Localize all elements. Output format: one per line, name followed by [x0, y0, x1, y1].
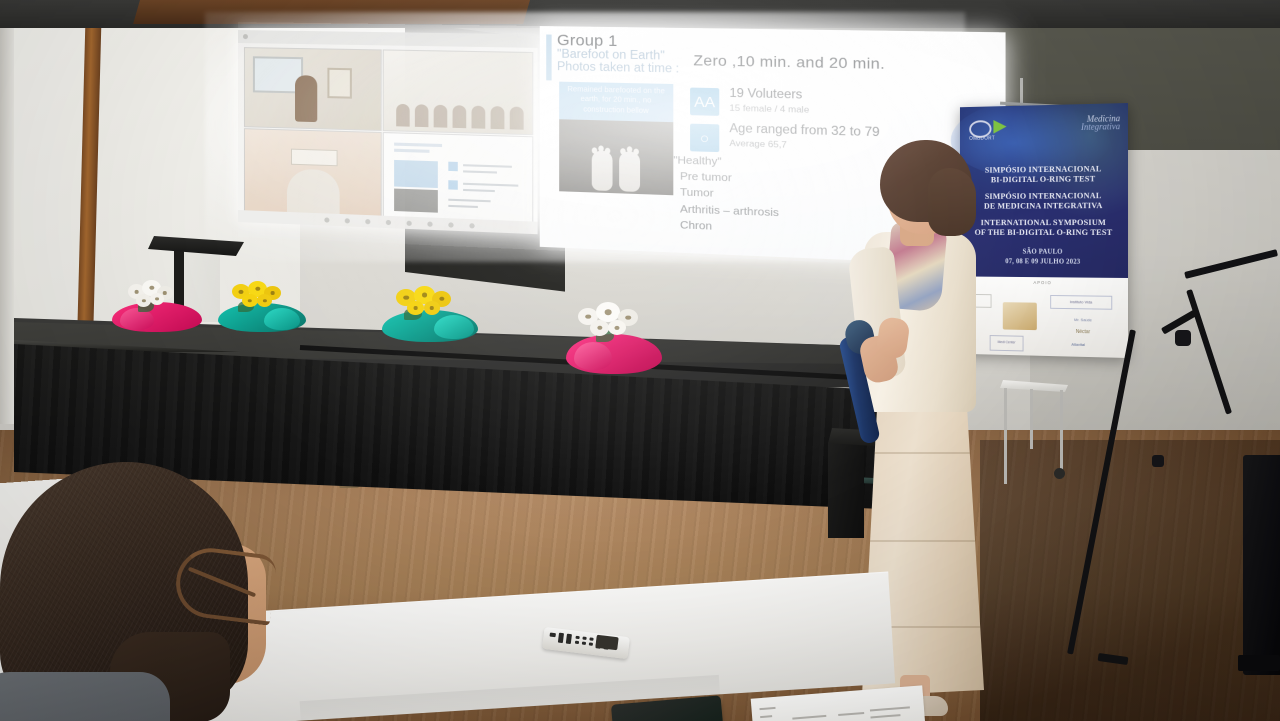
- conditions-list: "Healthy" Pre tumor Tumor Arthritis – ar…: [680, 153, 779, 238]
- video-call-grid: [238, 30, 538, 234]
- bloom: [136, 294, 151, 307]
- slide-photos-label: Photos taken at time :: [557, 61, 679, 76]
- sponsor-logo: Instituto Vida: [1050, 295, 1112, 310]
- presenter-hair-back: [928, 168, 976, 236]
- sponsor-logo: Atlavital: [1050, 338, 1106, 351]
- bloom: [596, 302, 620, 322]
- participant-head: [287, 169, 340, 215]
- volunteers-breakdown: 15 female / 4 male: [729, 102, 809, 115]
- age-circle-icon: ○: [690, 124, 719, 152]
- recording-dot-icon: [243, 34, 248, 39]
- flower-arrangement-yellow-teal-2: [382, 286, 478, 340]
- man-shoulder: [0, 672, 170, 721]
- stool-caster: [1054, 468, 1065, 479]
- sponsor-name: Atlavital: [1050, 341, 1106, 347]
- flower-arrangement-white-pink-2: [566, 302, 662, 374]
- sponsor-name: Néctar: [1062, 329, 1105, 336]
- sponsor-logo: Mr. Saúde: [1058, 315, 1108, 326]
- remote-room-tile: [244, 47, 382, 131]
- age-average: Average 65,7: [729, 137, 786, 149]
- soil-ground: [559, 119, 673, 195]
- sponsor-name: Instituto Vida: [1051, 299, 1111, 305]
- cellophane-wrap-fold: [434, 315, 474, 339]
- sponsor-name: Mr. Saúde: [1058, 317, 1108, 323]
- left-wall-edge: [0, 24, 14, 424]
- slide-times: Zero ,10 min. and 20 min.: [693, 52, 885, 73]
- picture-frame: [327, 68, 351, 99]
- bloom: [608, 320, 626, 335]
- flower-arrangement-yellow-teal: [218, 281, 306, 331]
- slide-accent-bar: [546, 34, 551, 80]
- people-icon-glyph: AA: [690, 88, 719, 116]
- conference-room-photo: Group 1 "Barefoot on Earth" Photos taken…: [0, 0, 1280, 721]
- bloom: [590, 320, 609, 336]
- shared-slide-tile: [383, 132, 534, 224]
- sponsor-logo: Néctar: [1062, 327, 1105, 338]
- stand-clamp-icon: [1175, 330, 1191, 346]
- bloom: [150, 293, 164, 305]
- pa-speaker-base: [1238, 655, 1280, 671]
- remote-control-end: [595, 635, 618, 651]
- person-silhouette: [295, 75, 317, 122]
- volunteers-count: 19 Voluteers: [729, 87, 802, 101]
- brand-line-2: Integrativa: [1081, 121, 1120, 132]
- bloom: [424, 301, 440, 315]
- age-range: Age ranged from 32 to 79: [729, 123, 879, 140]
- video-call-titlebar: [238, 30, 538, 48]
- logo-leaf-icon: [993, 120, 1006, 134]
- wall-sign: [291, 149, 338, 167]
- stand-collar-icon: [1152, 455, 1164, 467]
- bloom: [257, 294, 272, 307]
- seated-man-back-of-head: [0, 452, 290, 721]
- medicina-integrativa-logo: Medicina Integrativa: [1081, 113, 1120, 132]
- pa-speaker-box: [1243, 455, 1280, 675]
- cellophane-wrap-fold: [264, 308, 300, 330]
- cellophane-wrap-fold: [574, 342, 612, 370]
- people-icon: AA: [690, 88, 719, 116]
- photo-caption-text: Remained barefooted on the earth, for 20…: [559, 82, 673, 118]
- flower-arrangement-white-pink: [112, 280, 202, 330]
- barefoot-photo: Remained barefooted on the earth, for 20…: [559, 82, 673, 196]
- audience-tile: [383, 49, 534, 135]
- age-icon-glyph: ○: [690, 124, 719, 152]
- bloom: [242, 294, 258, 307]
- photo-caption-box: Remained barefooted on the earth, for 20…: [559, 82, 673, 123]
- bloom: [407, 301, 424, 315]
- ombdort-logo: OMBDORT: [969, 120, 1012, 142]
- participant-portrait-tile: [244, 128, 382, 217]
